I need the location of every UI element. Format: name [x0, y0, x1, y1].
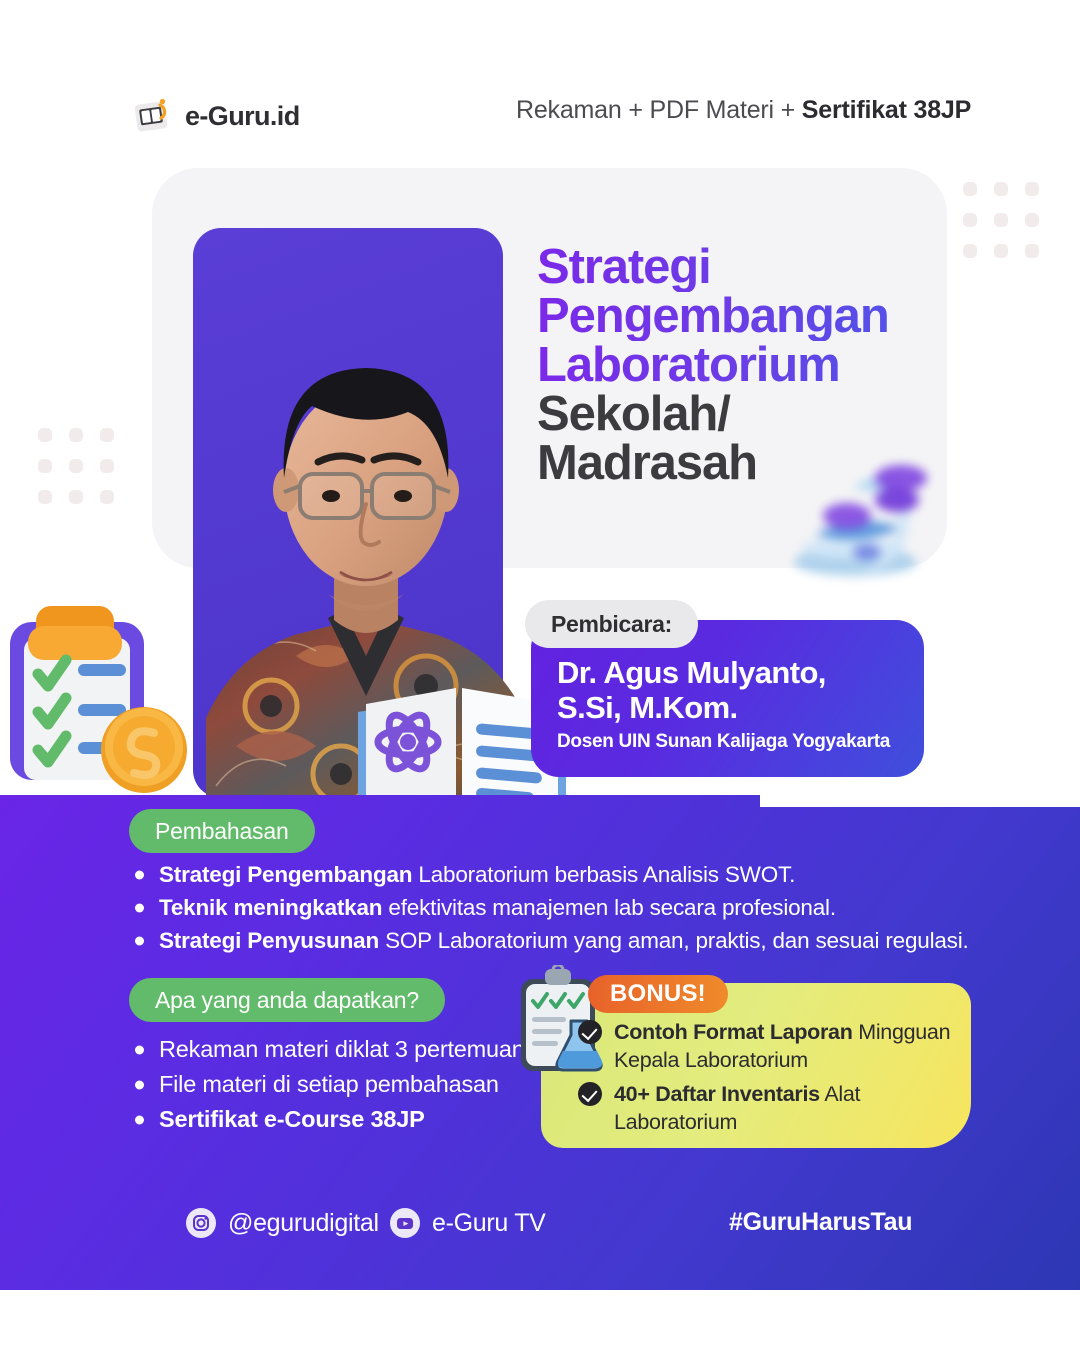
check-icon	[578, 1082, 602, 1106]
topic-3-rest: SOP Laboratorium yang aman, praktis, dan…	[379, 928, 969, 953]
topic-3-bold: Strategi Penyusunan	[159, 928, 379, 953]
list-item: 40+ Daftar Inventaris Alat Laboratorium	[578, 1080, 968, 1136]
section-notch	[760, 795, 1080, 807]
topic-2-rest: efektivitas manajemen lab secara profesi…	[382, 895, 836, 920]
title-line-1: Strategi	[537, 243, 957, 292]
list-item: File materi di setiap pembahasan	[129, 1067, 525, 1102]
instagram-handle[interactable]: @egurudigital	[186, 1208, 379, 1238]
title-line-2: Pengembangan	[537, 292, 957, 341]
page-title: Strategi Pengembangan Laboratorium Sekol…	[537, 243, 957, 488]
title-line-4: Sekolah/	[537, 390, 957, 439]
speaker-name-line-1: Dr. Agus Mulyanto,	[557, 655, 927, 690]
title-line-5: Madrasah	[537, 439, 957, 488]
list-item: Strategi Pengembangan Laboratorium berba…	[129, 858, 969, 891]
bonus-badge: BONUS!	[588, 975, 728, 1013]
topics-list: Strategi Pengembangan Laboratorium berba…	[129, 858, 969, 957]
speaker-name-line-2: S.Si, M.Kom.	[557, 690, 927, 725]
bonus-1-bold: Contoh Format Laporan	[614, 1020, 853, 1044]
benefits-list: Rekaman materi diklat 3 pertemuan File m…	[129, 1032, 525, 1137]
promo-poster: e-Guru.id Rekaman + PDF Materi + Sertifi…	[0, 0, 1080, 1350]
open-book-icon	[133, 96, 173, 136]
speaker-name: Dr. Agus Mulyanto, S.Si, M.Kom.	[557, 655, 927, 725]
list-item: Contoh Format Laporan Mingguan Kepala La…	[578, 1018, 968, 1074]
speaker-label-text: Pembicara:	[551, 611, 672, 638]
youtube-handle[interactable]: e-Guru TV	[390, 1208, 546, 1238]
title-line-3: Laboratorium	[537, 341, 957, 390]
bonus-list: Contoh Format Laporan Mingguan Kepala La…	[578, 1018, 968, 1142]
speaker-label-badge: Pembicara:	[525, 600, 698, 648]
dot-grid-decoration-top-right	[963, 182, 1039, 258]
header-tagline: Rekaman + PDF Materi + Sertifikat 38JP	[516, 96, 971, 125]
footer: @egurudigital e-Guru TV #GuruHarusTau	[0, 1200, 1080, 1256]
list-item: Teknik meningkatkan efektivitas manajeme…	[129, 891, 969, 924]
youtube-icon	[390, 1208, 420, 1238]
header-tag-bold: Sertifikat 38JP	[802, 96, 971, 124]
topic-1-bold: Strategi Pengembangan	[159, 862, 412, 887]
hashtag: #GuruHarusTau	[729, 1208, 912, 1237]
benefits-badge: Apa yang anda dapatkan?	[129, 978, 445, 1022]
dot-grid-decoration-left	[38, 428, 114, 504]
list-item: Strategi Penyusunan SOP Laboratorium yan…	[129, 924, 969, 957]
instagram-label: @egurudigital	[228, 1209, 379, 1238]
bonus-badge-text: BONUS!	[610, 980, 706, 1008]
list-item: Sertifikat e-Course 38JP	[129, 1102, 525, 1137]
coin-icon	[98, 702, 190, 794]
check-icon	[578, 1020, 602, 1044]
benefits-badge-text: Apa yang anda dapatkan?	[155, 987, 419, 1014]
header: e-Guru.id Rekaman + PDF Materi + Sertifi…	[0, 92, 1080, 148]
topic-2-bold: Teknik meningkatkan	[159, 895, 382, 920]
topic-1-rest: Laboratorium berbasis Analisis SWOT.	[412, 862, 795, 887]
list-item: Rekaman materi diklat 3 pertemuan	[129, 1032, 525, 1067]
instagram-icon	[186, 1208, 216, 1238]
topics-badge: Pembahasan	[129, 809, 315, 853]
brand-name: e-Guru.id	[185, 101, 300, 132]
brand-logo: e-Guru.id	[133, 92, 300, 140]
youtube-label: e-Guru TV	[432, 1209, 546, 1238]
topics-badge-text: Pembahasan	[155, 818, 289, 845]
bonus-2-bold: 40+ Daftar Inventaris	[614, 1082, 820, 1106]
speaker-affiliation: Dosen UIN Sunan Kalijaga Yogyakarta	[557, 731, 890, 753]
header-tag-plain: Rekaman + PDF Materi +	[516, 96, 802, 124]
